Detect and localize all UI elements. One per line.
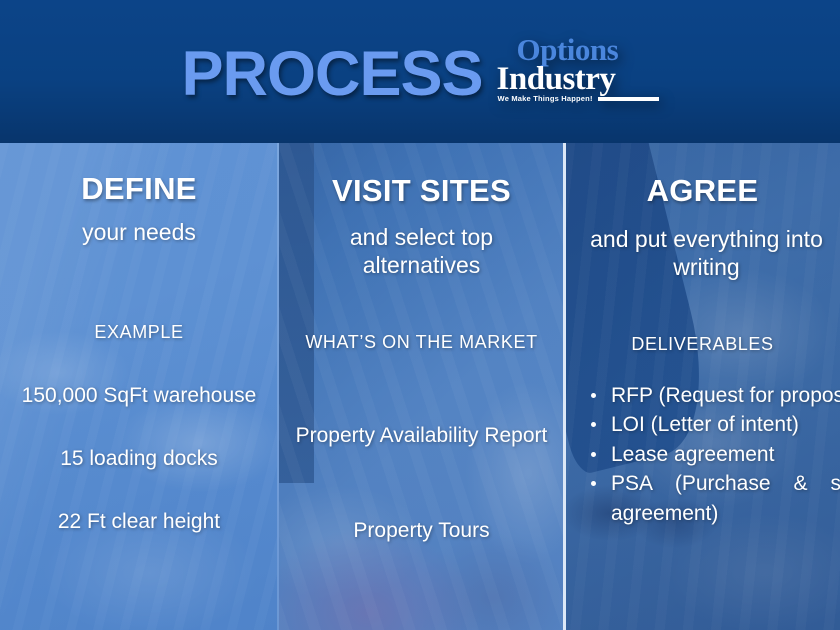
bullet-icon: [591, 422, 596, 427]
step-3-subheading: and put everything into writing: [567, 225, 840, 281]
list-item: LOI (Letter of intent): [579, 410, 840, 439]
step-1-item: 22 Ft clear height: [0, 509, 278, 534]
deliverables-list: RFP (Request for proposal) LOI (Letter o…: [579, 381, 840, 528]
step-1-subheading: your needs: [0, 218, 278, 246]
column-divider-left: [277, 143, 279, 630]
step-1-section-label: EXAMPLE: [0, 321, 278, 344]
process-step-agree: AGREE and put everything into writing DE…: [565, 143, 840, 630]
list-item: PSA (Purchase & sale agreement): [579, 469, 840, 528]
list-item-label: LOI (Letter of intent): [611, 413, 799, 436]
process-slide: PROCESS Options Industry We Make Things …: [0, 0, 840, 630]
process-step-visit-sites: VISIT SITES and select top alternatives …: [278, 143, 565, 630]
step-1-item: 15 loading docks: [0, 446, 278, 471]
list-item-label: PSA (Purchase & sale agreement): [611, 472, 840, 524]
logo-word-industry: Industry: [497, 64, 616, 94]
options-industry-logo: Options Industry We Make Things Happen!: [497, 36, 659, 104]
step-3-section-label: DELIVERABLES: [565, 333, 840, 356]
list-item-label: RFP (Request for proposal): [611, 384, 840, 407]
list-item: RFP (Request for proposal): [579, 381, 840, 410]
step-2-item: Property Tours: [282, 518, 561, 543]
logo-word-options: Options: [497, 36, 659, 65]
header-inner: PROCESS Options Industry We Make Things …: [0, 0, 840, 143]
step-2-section-label: WHAT’S ON THE MARKET: [288, 331, 555, 354]
bullet-icon: [591, 481, 596, 486]
logo-industry-row: Industry: [497, 64, 659, 94]
list-item-label: Lease agreement: [611, 443, 774, 466]
step-1-heading: DEFINE: [0, 173, 278, 206]
column-1-content: DEFINE your needs EXAMPLE 150,000 SqFt w…: [0, 143, 278, 630]
column-3-content: AGREE and put everything into writing DE…: [565, 143, 840, 630]
process-columns: DEFINE your needs EXAMPLE 150,000 SqFt w…: [0, 143, 840, 630]
step-3-heading: AGREE: [565, 175, 840, 208]
logo-tagline-row: We Make Things Happen!: [497, 94, 659, 103]
slide-header: PROCESS Options Industry We Make Things …: [0, 0, 840, 143]
list-item: Lease agreement: [579, 440, 840, 469]
step-2-item: Property Availability Report: [282, 423, 561, 448]
step-1-item: 150,000 SqFt warehouse: [0, 383, 278, 408]
step-2-heading: VISIT SITES: [278, 175, 565, 208]
bullet-icon: [591, 452, 596, 457]
logo-tagline: We Make Things Happen!: [498, 94, 593, 103]
page-title: PROCESS: [181, 43, 482, 106]
step-2-subheading: and select top alternatives: [294, 223, 549, 279]
bullet-icon: [591, 393, 596, 398]
logo-underline-rule: [598, 97, 659, 101]
column-2-content: VISIT SITES and select top alternatives …: [278, 143, 565, 630]
column-divider-right: [563, 143, 566, 630]
process-step-define: DEFINE your needs EXAMPLE 150,000 SqFt w…: [0, 143, 278, 630]
